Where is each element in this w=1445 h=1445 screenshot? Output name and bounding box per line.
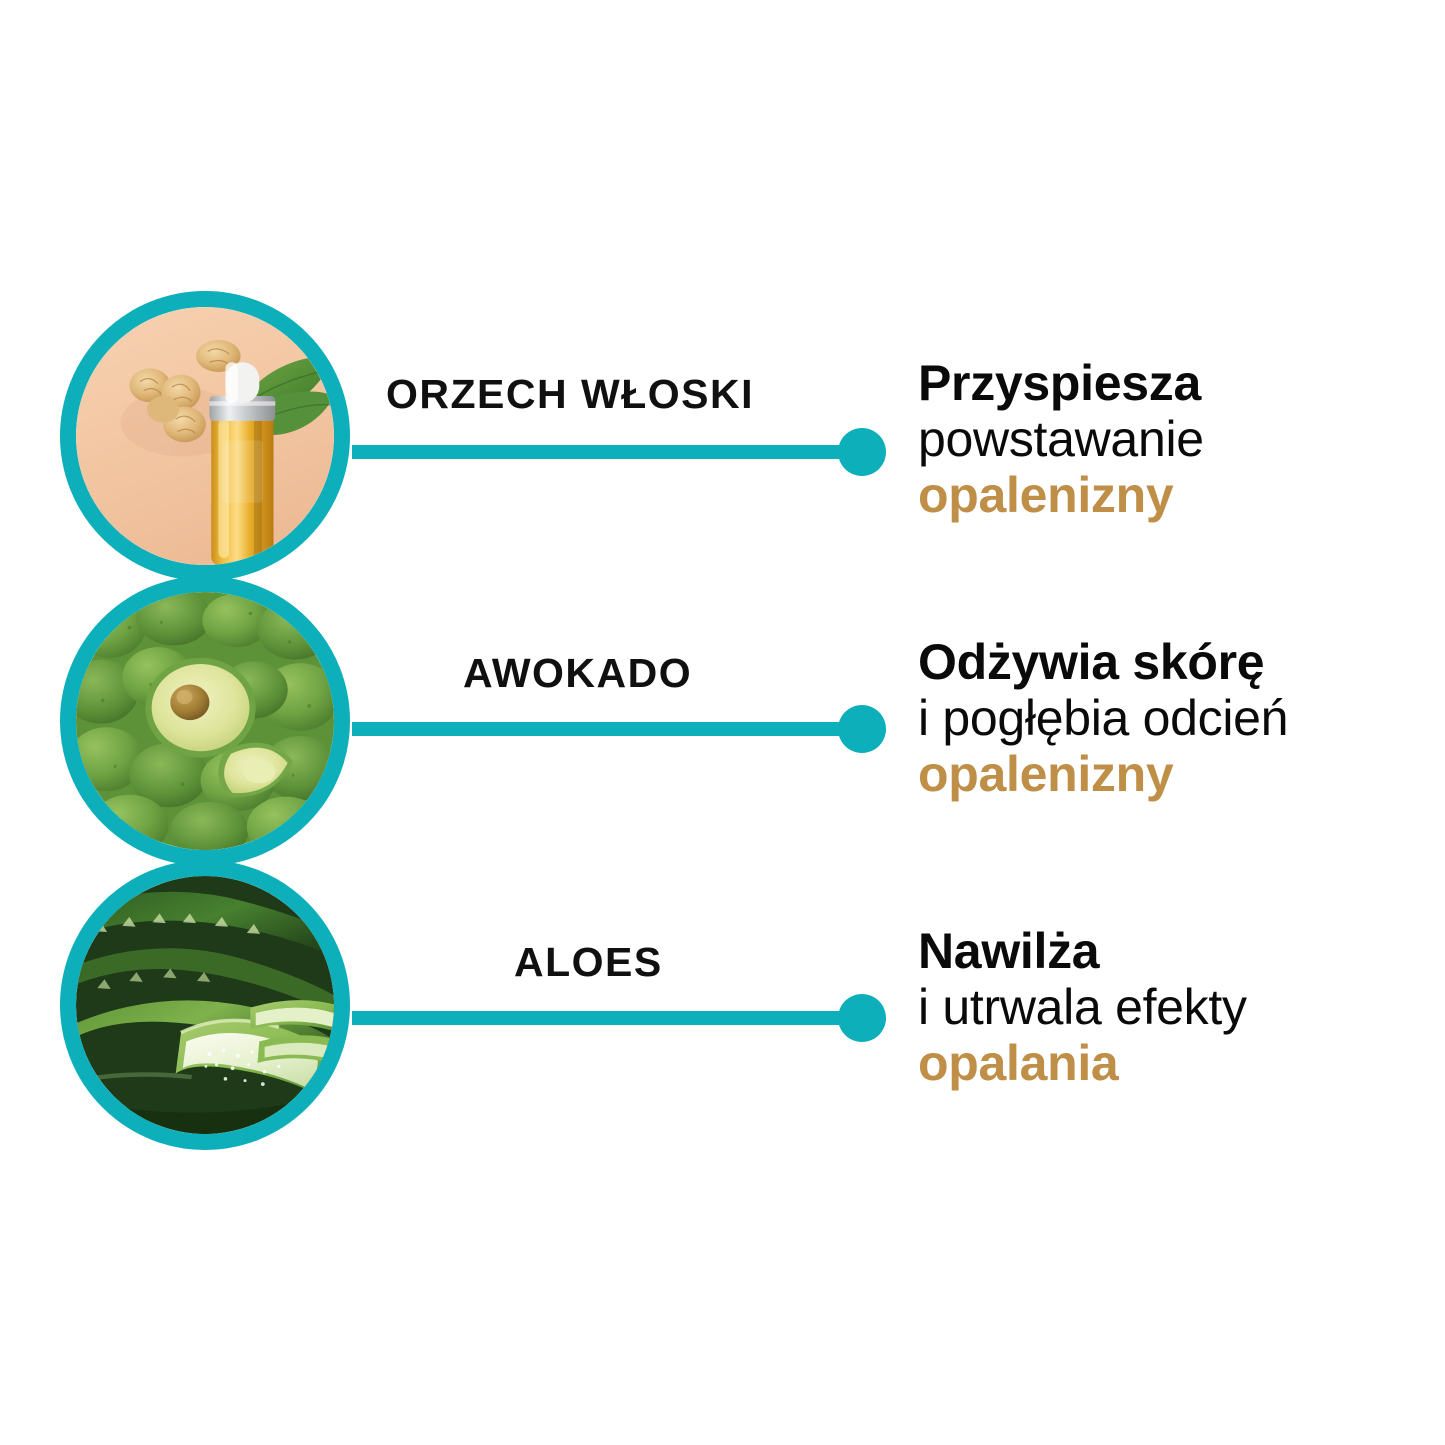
connector-line-orzech-wloski: [352, 445, 852, 459]
benefit-text-aloes: Nawilża i utrwala efekty opalania: [918, 923, 1438, 1091]
walnut-oil-photo: [76, 307, 334, 565]
benefit-line-3-highlight: opalenizny: [918, 467, 1438, 523]
avocado-photo: [76, 592, 334, 850]
benefit-line-3-highlight: opalenizny: [918, 746, 1438, 802]
benefit-line-2: i utrwala efekty: [918, 979, 1438, 1035]
benefit-text-orzech-wloski: Przyspiesza powstawanie opalenizny: [918, 355, 1438, 523]
connector-dot-awokado: [838, 705, 886, 753]
ingredient-label-orzech-wloski: ORZECH WŁOSKI: [386, 371, 754, 418]
benefit-line-3-highlight: opalania: [918, 1035, 1438, 1091]
connector-dot-aloes: [838, 994, 886, 1042]
infographic-canvas: ORZECH WŁOSKI AWOKADO ALOES Przyspiesza …: [0, 0, 1445, 1445]
benefit-line-1: Przyspiesza: [918, 355, 1438, 411]
ingredient-circle-orzech-wloski: [60, 291, 350, 581]
ingredient-label-awokado: AWOKADO: [463, 650, 692, 697]
benefit-text-awokado: Odżywia skórę i pogłębia odcień opaleniz…: [918, 634, 1438, 802]
benefit-line-2: i pogłębia odcień: [918, 690, 1438, 746]
connector-line-awokado: [352, 722, 852, 736]
benefit-line-1: Odżywia skórę: [918, 634, 1438, 690]
ingredient-circle-awokado: [60, 576, 350, 866]
connector-line-aloes: [352, 1011, 852, 1025]
connector-dot-orzech-wloski: [838, 428, 886, 476]
benefit-line-2: powstawanie: [918, 411, 1438, 467]
ingredient-label-aloes: ALOES: [514, 939, 663, 986]
benefit-line-1: Nawilża: [918, 923, 1438, 979]
ingredient-circle-aloes: [60, 860, 350, 1150]
aloe-vera-photo: [76, 876, 334, 1134]
